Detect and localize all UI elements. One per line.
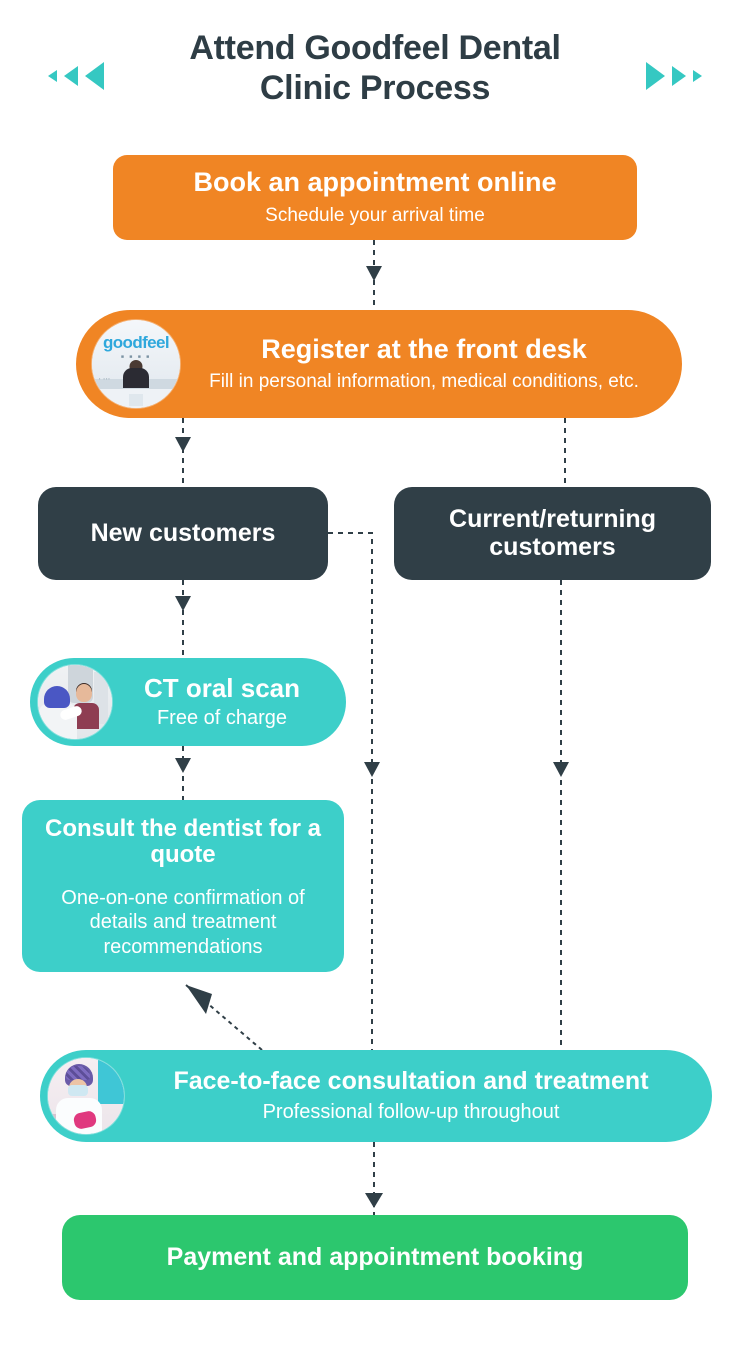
triangle-left-medium-icon [64, 66, 78, 86]
triangle-right-medium-icon [672, 66, 686, 86]
node-payment-appointment-booking-title: Payment and appointment booking [167, 1244, 584, 1272]
triangle-left-large-icon [85, 62, 104, 90]
triangle-right-small-icon [693, 70, 702, 82]
page-title-line-1: Attend Goodfeel Dental [189, 29, 560, 67]
connector-book-to-register [366, 240, 382, 310]
goodfeel-logo-text: goodfeel [103, 333, 169, 353]
node-register-front-desk-subtitle: Fill in personal information, medical co… [209, 370, 639, 393]
dental-treatment-photo [48, 1058, 124, 1134]
connector-new-customers-to-ct-scan [175, 580, 191, 658]
reception-desk-photo: goodfeel ■ ■ ■ ■ ▪ ▪▪▪ [92, 320, 180, 408]
node-ct-oral-scan[interactable]: CT oral scan Free of charge [30, 658, 346, 746]
node-book-appointment-title: Book an appointment online [194, 168, 557, 198]
node-ct-oral-scan-subtitle: Free of charge [157, 706, 287, 730]
node-ct-oral-scan-title: CT oral scan [144, 674, 300, 703]
decoration-left-arrows [48, 62, 104, 90]
connector-face-to-face-to-consult [186, 985, 262, 1050]
node-face-to-face-treatment[interactable]: Face-to-face consultation and treatment … [40, 1050, 712, 1142]
decoration-right-arrows [646, 62, 702, 90]
flowchart-canvas: Attend Goodfeel Dental Clinic Process [0, 0, 750, 1370]
node-book-appointment[interactable]: Book an appointment online Schedule your… [113, 155, 637, 240]
node-new-customers[interactable]: New customers [38, 487, 328, 580]
ct-scan-photo [38, 665, 112, 739]
page-title: Attend Goodfeel Dental Clinic Process [0, 28, 750, 108]
node-new-customers-title: New customers [91, 520, 276, 548]
node-current-returning-customers[interactable]: Current/returning customers [394, 487, 711, 580]
node-face-to-face-treatment-subtitle: Professional follow-up throughout [263, 1100, 560, 1124]
node-consult-dentist-quote-title: Consult the dentist for a quote [36, 816, 330, 869]
node-register-front-desk[interactable]: goodfeel ■ ■ ■ ■ ▪ ▪▪▪ Register at the f… [76, 310, 682, 418]
node-face-to-face-treatment-title: Face-to-face consultation and treatment [173, 1068, 648, 1096]
triangle-right-large-icon [646, 62, 665, 90]
connector-register-to-new-customers [175, 418, 191, 487]
node-current-returning-customers-title: Current/returning customers [408, 506, 697, 561]
node-payment-appointment-booking[interactable]: Payment and appointment booking [62, 1215, 688, 1300]
node-register-front-desk-title: Register at the front desk [261, 335, 587, 365]
connector-face-to-face-to-payment [365, 1142, 383, 1215]
node-book-appointment-subtitle: Schedule your arrival time [265, 204, 485, 227]
triangle-left-small-icon [48, 70, 57, 82]
connector-ct-scan-to-consult [175, 746, 191, 800]
page-title-line-2: Clinic Process [260, 69, 490, 107]
connector-current-customers-to-face-to-face [553, 580, 569, 1050]
connector-new-customers-to-face-to-face [328, 533, 380, 1050]
node-consult-dentist-quote[interactable]: Consult the dentist for a quote One-on-o… [22, 800, 344, 972]
node-consult-dentist-quote-subtitle: One-on-one confirmation of details and t… [36, 886, 330, 959]
